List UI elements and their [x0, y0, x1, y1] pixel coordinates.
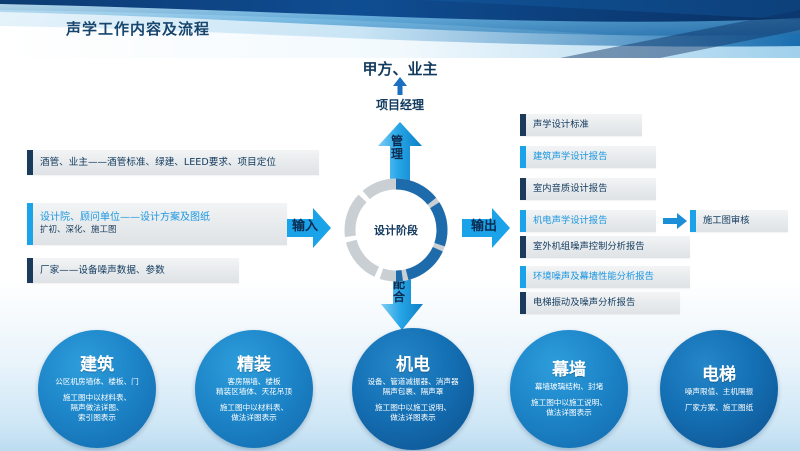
input-box-1[interactable]: 酒管、业主——酒管标准、绿建、LEED要求、项目定位 — [27, 150, 319, 175]
output-box-7-label: 电梯振动及噪声分析报告 — [526, 297, 643, 309]
output-box-4-label: 机电声学设计报告 — [526, 215, 615, 227]
discipline-title-4: 幕墙 — [552, 360, 586, 380]
output-box-3-label: 室内音质设计报告 — [526, 183, 615, 195]
output-box-6[interactable]: 环境噪声及幕墙性能分析报告 — [520, 266, 690, 288]
input-box-3-main: 厂家——设备噪声数据、参数 — [40, 265, 165, 276]
output-box-1-label: 声学设计标准 — [526, 119, 597, 131]
discipline-title-1: 建筑 — [80, 355, 114, 375]
small-up-arrow-icon — [390, 77, 410, 99]
owner-label: 甲方、业主 — [330, 58, 470, 79]
header-banner: 声学工作内容及流程 — [0, 0, 800, 58]
discipline-title-5: 电梯 — [702, 365, 736, 385]
input-box-1-main: 酒管、业主——酒管标准、绿建、LEED要求、项目定位 — [40, 157, 276, 168]
input-box-3-text: 厂家——设备噪声数据、参数 — [33, 265, 173, 277]
output-box-4[interactable]: 机电声学设计报告 — [520, 210, 656, 232]
input-box-2-sub: 扩初、深化、施工图 — [40, 225, 210, 236]
output-arrow-icon — [462, 208, 510, 252]
input-arrow-icon — [283, 208, 331, 252]
discipline-line2-2: 施工图中以材料表、做法详图表示 — [220, 403, 288, 423]
discipline-circle-elevator[interactable]: 电梯 噪声限值、主机隔振 厂家方案、施工图纸 — [660, 330, 778, 448]
output-box-1[interactable]: 声学设计标准 — [520, 114, 642, 136]
input-box-1-text: 酒管、业主——酒管标准、绿建、LEED要求、项目定位 — [33, 157, 284, 169]
discipline-circle-mep[interactable]: 机电 设备、管道减振器、消声器隔声包裹、隔声罩 施工图中以施工说明、做法详图表示 — [352, 328, 474, 450]
output-box-7[interactable]: 电梯振动及噪声分析报告 — [520, 292, 680, 314]
output-box-5-label: 室外机组噪声控制分析报告 — [526, 241, 653, 253]
discipline-circle-architecture[interactable]: 建筑 公区机房墙体、楼板、门 施工图中以材料表、隔声做法详图、索引图表示 — [38, 330, 156, 448]
output-box-2[interactable]: 建筑声学设计报告 — [520, 146, 656, 168]
discipline-line1-4: 幕墙玻璃结构、封堵 — [535, 382, 603, 392]
input-box-2[interactable]: 设计院、顾问单位——设计方案及图纸 扩初、深化、施工图 — [27, 203, 287, 245]
slide-canvas: 声学工作内容及流程 甲方、业主 项目经理 管理 配合 输入 — [0, 0, 800, 451]
discipline-line2-5: 厂家方案、施工图纸 — [685, 403, 753, 413]
review-arrow-icon — [663, 213, 687, 233]
discipline-line1-1: 公区机房墙体、楼板、门 — [55, 377, 139, 387]
discipline-line1-2: 客房隔墙、楼板精装区墙体、天花吊顶 — [216, 377, 292, 397]
input-box-2-text: 设计院、顾问单位——设计方案及图纸 扩初、深化、施工图 — [33, 212, 218, 236]
output-box-6-label: 环境噪声及幕墙性能分析报告 — [526, 271, 662, 283]
discipline-circle-interior[interactable]: 精装 客房隔墙、楼板精装区墙体、天花吊顶 施工图中以材料表、做法详图表示 — [195, 330, 313, 448]
discipline-title-2: 精装 — [237, 355, 271, 375]
output-box-5[interactable]: 室外机组噪声控制分析报告 — [520, 236, 690, 258]
discipline-line1-3: 设备、管道减振器、消声器隔声包裹、隔声罩 — [367, 377, 458, 397]
construction-drawing-review-box[interactable]: 施工图审核 — [690, 210, 788, 232]
output-box-2-label: 建筑声学设计报告 — [526, 151, 615, 163]
discipline-circle-facade[interactable]: 幕墙 幕墙玻璃结构、封堵 施工图中以施工说明、做法详图表示 — [510, 330, 628, 448]
input-box-3[interactable]: 厂家——设备噪声数据、参数 — [27, 258, 239, 283]
page-title: 声学工作内容及流程 — [66, 18, 210, 39]
discipline-line2-3: 施工图中以施工说明、做法详图表示 — [375, 403, 451, 423]
input-box-2-main: 设计院、顾问单位——设计方案及图纸 — [40, 212, 210, 223]
discipline-line2-1: 施工图中以材料表、隔声做法详图、索引图表示 — [63, 393, 131, 423]
discipline-title-3: 机电 — [396, 355, 430, 375]
output-box-3[interactable]: 室内音质设计报告 — [520, 178, 656, 200]
design-stage-label: 设计阶段 — [340, 174, 452, 286]
discipline-line2-4: 施工图中以施工说明、做法详图表示 — [531, 398, 607, 418]
review-box-label: 施工图审核 — [696, 215, 758, 227]
discipline-line1-5: 噪声限值、主机隔振 — [685, 387, 753, 397]
